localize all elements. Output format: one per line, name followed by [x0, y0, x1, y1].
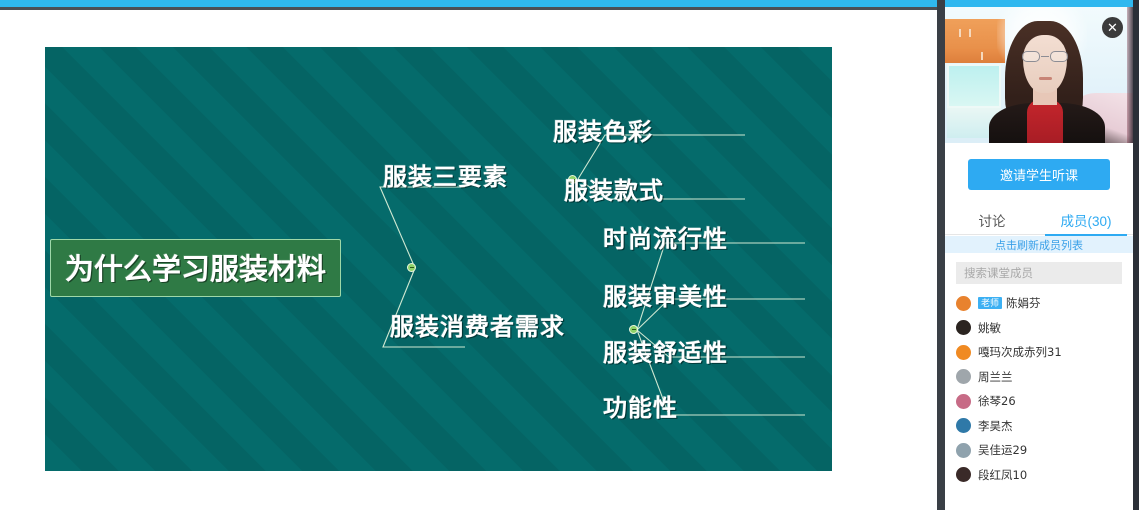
tab-discussion[interactable]: 讨论	[945, 205, 1039, 235]
mindmap-root-node[interactable]: 为什么学习服装材料	[50, 239, 341, 297]
search-row	[945, 259, 1133, 287]
window-top-shadow	[0, 7, 938, 10]
avatar	[956, 443, 971, 458]
member-name: 徐琴26	[978, 393, 1016, 409]
mindmap-branch-2[interactable]: 服装消费者需求	[390, 307, 565, 342]
avatar	[956, 394, 971, 409]
panel-divider	[937, 0, 945, 510]
leaf-label: 服装审美性	[603, 283, 728, 311]
member-list-item[interactable]: 嘎玛次成赤列31	[945, 340, 1133, 365]
mindmap-leaf-aesthetics[interactable]: 服装审美性	[603, 277, 728, 312]
member-name: 姚敏	[978, 320, 1001, 336]
member-name: 周兰兰	[978, 369, 1013, 385]
root-label: 为什么学习服装材料	[65, 252, 326, 286]
teacher-badge: 老师	[978, 297, 1002, 309]
search-input[interactable]	[956, 262, 1122, 284]
member-name: 吴佳运29	[978, 442, 1027, 458]
background-window-sliver	[1133, 0, 1139, 510]
teacher-video-feed[interactable]: ✕	[945, 7, 1133, 143]
avatar	[956, 467, 971, 482]
leaf-label: 服装色彩	[553, 118, 653, 146]
avatar	[956, 320, 971, 335]
invite-students-button[interactable]: 邀请学生听课	[968, 159, 1110, 190]
video-cabinet	[945, 19, 1005, 49]
member-list-item[interactable]: 老师陈娟芬	[945, 291, 1133, 316]
mindmap-branch-1[interactable]: 服装三要素	[383, 157, 508, 192]
video-turtleneck	[1027, 99, 1063, 143]
video-right-edge	[1127, 7, 1133, 143]
video-mouth	[1039, 77, 1052, 80]
mindmap-leaf-functionality[interactable]: 功能性	[603, 388, 678, 423]
leaf-label: 功能性	[603, 394, 678, 422]
member-list-item[interactable]: 吴佳运29	[945, 438, 1133, 463]
member-name: 段红凤10	[978, 467, 1027, 483]
branch-2-label: 服装消费者需求	[390, 313, 565, 341]
close-icon[interactable]: ✕	[1102, 17, 1123, 38]
leaf-label: 时尚流行性	[603, 225, 728, 253]
invite-button-row: 邀请学生听课	[945, 143, 1133, 205]
member-list-item[interactable]: 李昊杰	[945, 414, 1133, 439]
window-accent-bar	[0, 0, 1139, 7]
leaf-label: 服装款式	[564, 177, 664, 205]
cabinet-handle-icon	[969, 29, 971, 37]
video-window	[947, 64, 1001, 108]
avatar	[956, 369, 971, 384]
cabinet-handle-icon	[981, 52, 983, 60]
glasses-icon	[1021, 51, 1069, 62]
video-face	[1023, 35, 1067, 93]
member-name: 嘎玛次成赤列31	[978, 344, 1062, 360]
mindmap-leaf-clothing-style[interactable]: 服装款式	[564, 171, 664, 206]
mindmap-leaf-fashion-trend[interactable]: 时尚流行性	[603, 219, 728, 254]
mindmap-leaf-comfort[interactable]: 服装舒适性	[603, 333, 728, 368]
panel-tabs: 讨论 成员(30)	[945, 205, 1133, 235]
tab-members[interactable]: 成员(30)	[1039, 205, 1133, 235]
mindmap-leaf-clothing-color[interactable]: 服装色彩	[553, 112, 653, 147]
classroom-side-panel: ✕ 邀请学生听课 讨论 成员(30) 点击刷新成员列表 老师陈娟芬姚敏嘎玛次成赤…	[945, 7, 1133, 510]
video-cabinet-lower	[945, 49, 1005, 63]
branch-1-label: 服装三要素	[383, 163, 508, 191]
member-list-item[interactable]: 姚敏	[945, 316, 1133, 341]
member-name: 李昊杰	[978, 418, 1013, 434]
leaf-label: 服装舒适性	[603, 339, 728, 367]
refresh-member-list-button[interactable]: 点击刷新成员列表	[945, 236, 1133, 253]
member-list-item[interactable]: 周兰兰	[945, 365, 1133, 390]
cabinet-handle-icon	[959, 29, 961, 37]
collapse-dot-root[interactable]	[407, 263, 416, 272]
member-list-item[interactable]: 段红凤10	[945, 463, 1133, 488]
avatar	[956, 345, 971, 360]
member-list-item[interactable]: 徐琴26	[945, 389, 1133, 414]
mindmap-canvas[interactable]: 为什么学习服装材料 服装三要素 服装消费者需求 服装色彩 服装款式 时尚流行性 …	[45, 47, 832, 471]
avatar	[956, 418, 971, 433]
member-list[interactable]: 老师陈娟芬姚敏嘎玛次成赤列31周兰兰徐琴26李昊杰吴佳运29段红凤10	[945, 291, 1133, 510]
avatar	[956, 296, 971, 311]
member-name: 陈娟芬	[1006, 295, 1041, 311]
app-window: 为什么学习服装材料 服装三要素 服装消费者需求 服装色彩 服装款式 时尚流行性 …	[0, 0, 1139, 510]
